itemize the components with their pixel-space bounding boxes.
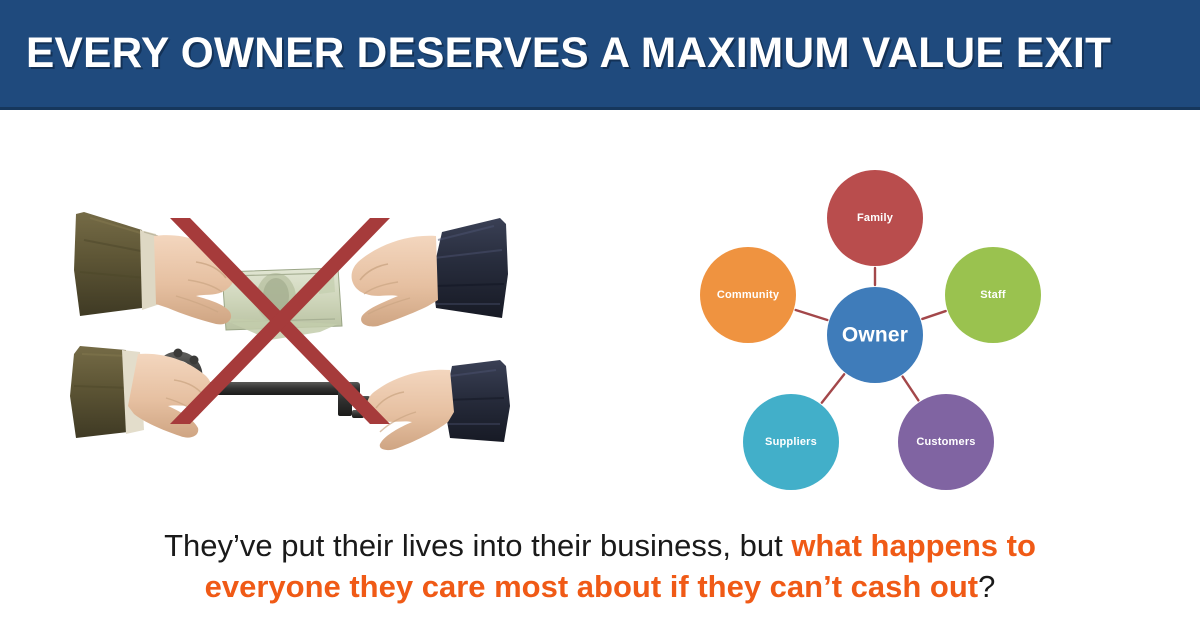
connector-suppliers bbox=[822, 374, 844, 402]
node-customers[interactable]: Customers bbox=[898, 394, 994, 490]
caption-line1-highlight: what happens to bbox=[791, 528, 1036, 563]
node-label-customers: Customers bbox=[916, 436, 975, 448]
caption-line2-plain: ? bbox=[978, 569, 995, 604]
connector-staff bbox=[922, 311, 945, 319]
node-label-suppliers: Suppliers bbox=[765, 436, 817, 448]
caption-line1-plain: They’ve put their lives into their busin… bbox=[164, 528, 791, 563]
connector-community bbox=[796, 310, 828, 320]
connector-customers bbox=[903, 377, 919, 401]
header-bar: EVERY OWNER DESERVES A MAXIMUM VALUE EXI… bbox=[0, 0, 1200, 110]
handshake-photo bbox=[70, 200, 510, 455]
caption-line2-highlight: everyone they care most about if they ca… bbox=[205, 569, 979, 604]
caption-line-2: everyone they care most about if they ca… bbox=[0, 566, 1200, 607]
caption-text: They’ve put their lives into their busin… bbox=[0, 525, 1200, 607]
node-label-owner: Owner bbox=[842, 324, 908, 347]
stakeholder-diagram: FamilyStaffCustomersSuppliersCommunity O… bbox=[690, 150, 1060, 510]
stakeholder-diagram-graphic: FamilyStaffCustomersSuppliersCommunity O… bbox=[690, 150, 1060, 510]
node-label-community: Community bbox=[717, 289, 780, 301]
node-label-family: Family bbox=[857, 212, 894, 224]
slide-body: FamilyStaffCustomersSuppliersCommunity O… bbox=[0, 110, 1200, 631]
page-title: EVERY OWNER DESERVES A MAXIMUM VALUE EXI… bbox=[26, 32, 1111, 75]
node-staff[interactable]: Staff bbox=[945, 247, 1041, 343]
node-suppliers[interactable]: Suppliers bbox=[743, 394, 839, 490]
node-community[interactable]: Community bbox=[700, 247, 796, 343]
node-label-staff: Staff bbox=[980, 289, 1006, 301]
node-owner[interactable]: Owner bbox=[827, 287, 923, 383]
node-family[interactable]: Family bbox=[827, 170, 923, 266]
handshake-photo-graphic bbox=[70, 200, 510, 455]
caption-line-1: They’ve put their lives into their busin… bbox=[0, 525, 1200, 566]
owner-node: Owner bbox=[827, 287, 923, 383]
